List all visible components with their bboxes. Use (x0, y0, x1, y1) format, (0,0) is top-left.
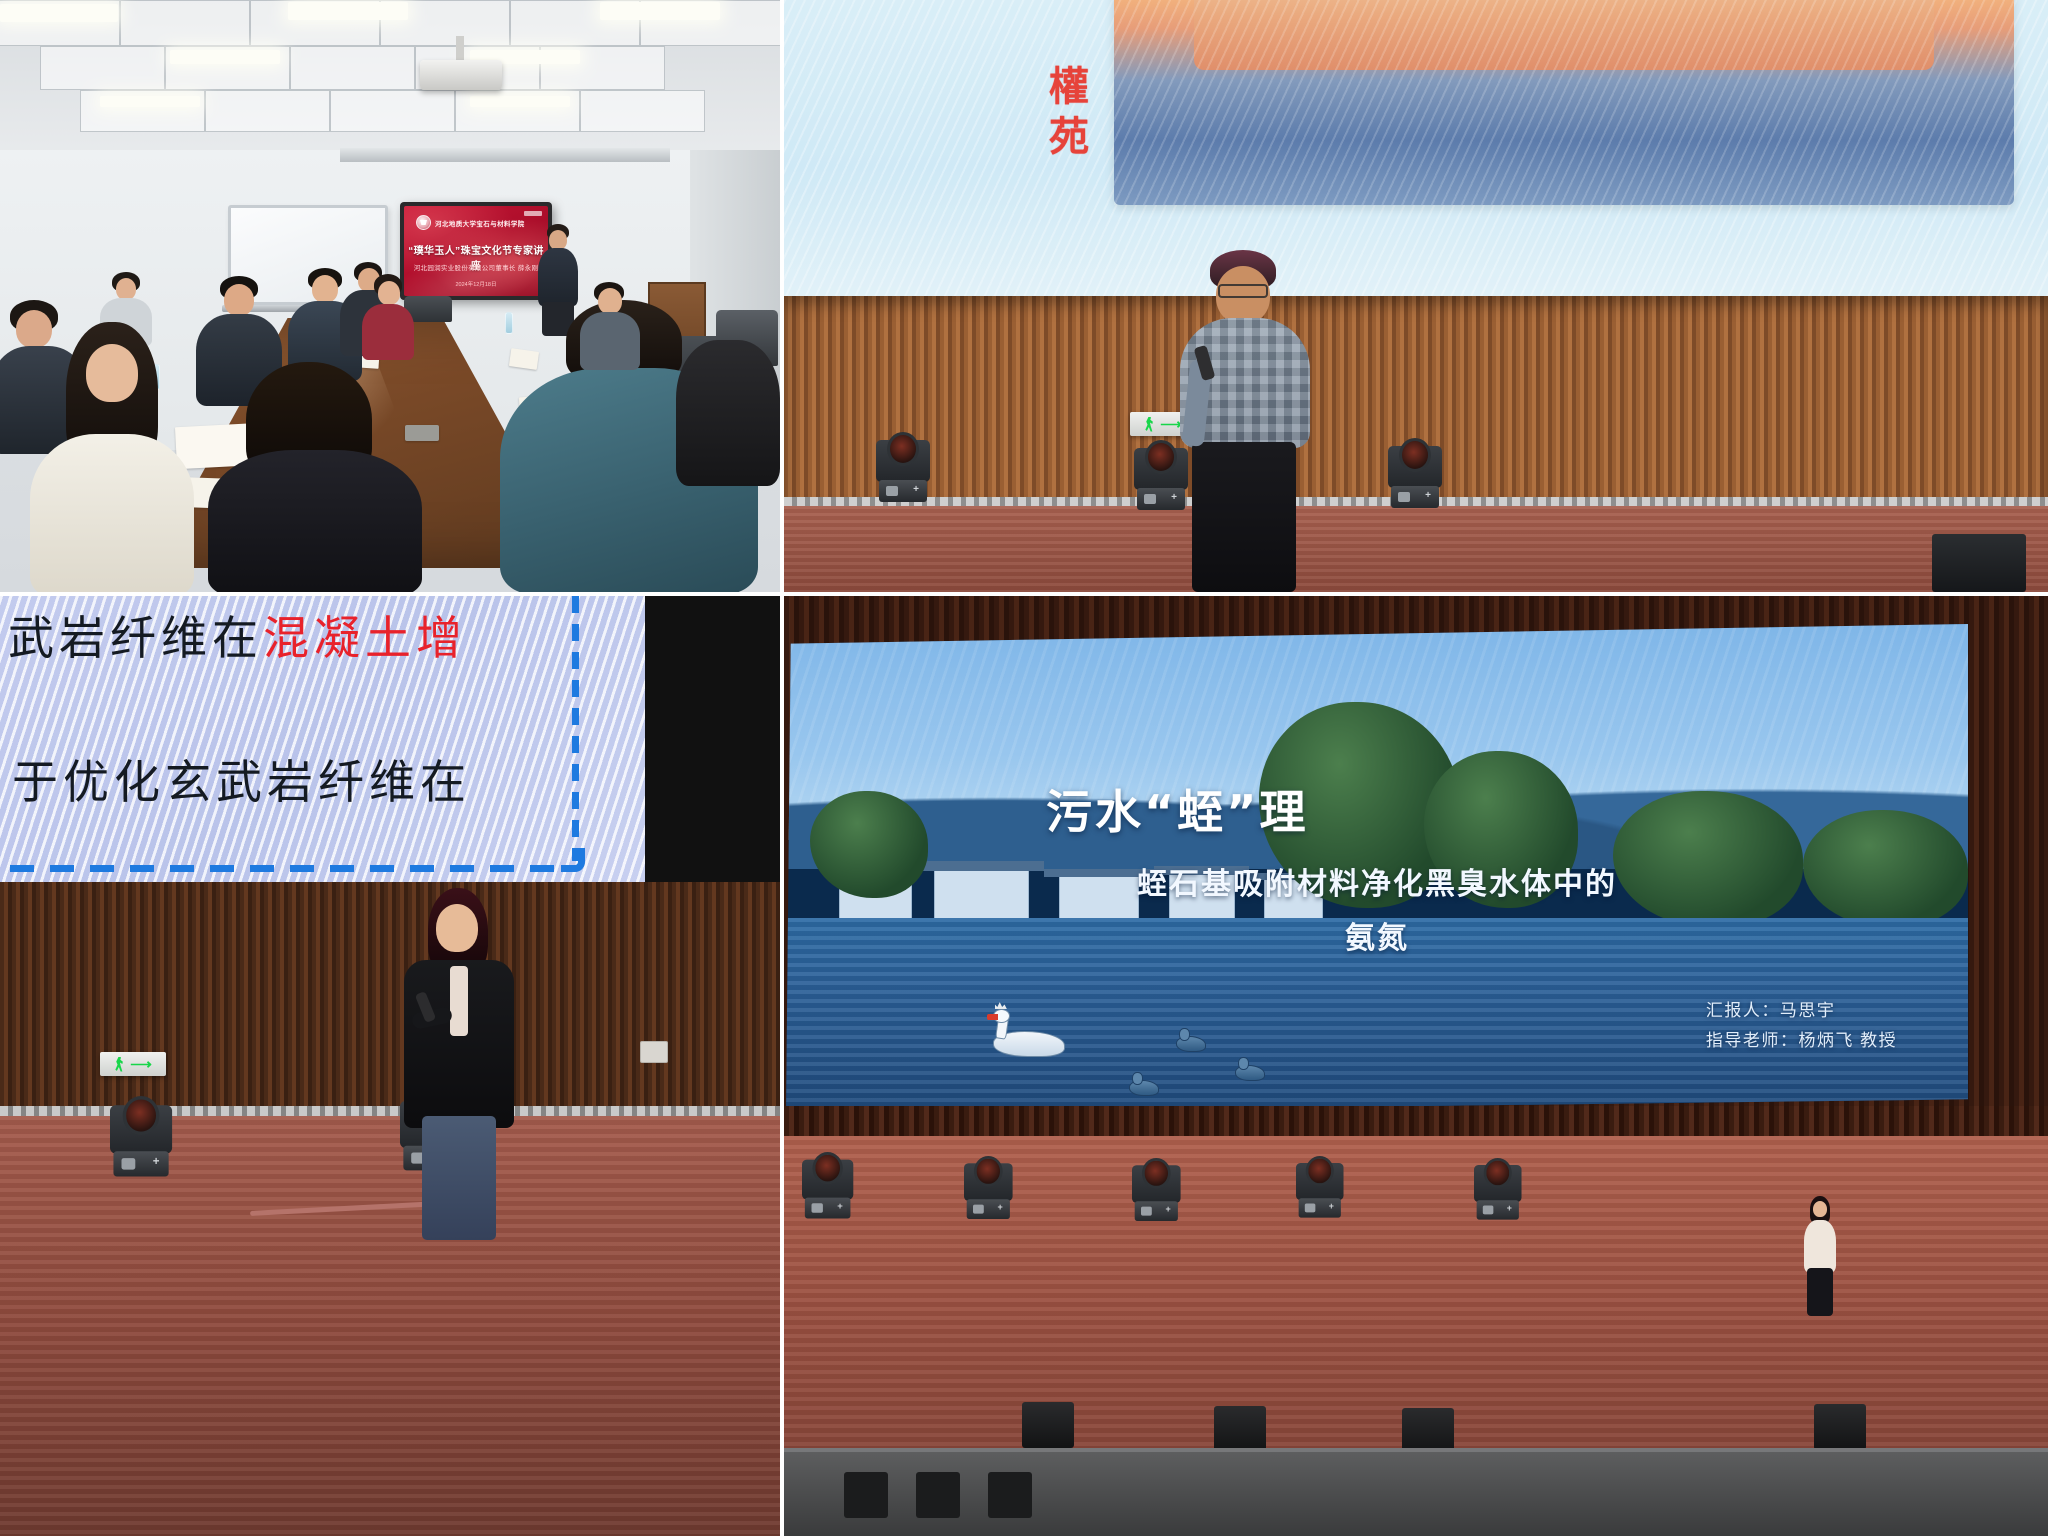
par-stage-light: + (876, 432, 930, 506)
collage-divider-horizontal-left (0, 592, 784, 596)
slide-line-1-red: 混凝土增 (263, 611, 467, 665)
attendee (580, 282, 640, 368)
slide-duck (1235, 1065, 1265, 1081)
projection-slide: 武岩纤维在混凝土增 于优化玄武岩纤维在 (0, 596, 645, 886)
exit-sign: ⟶ (100, 1052, 166, 1076)
projector-mount (456, 36, 464, 62)
screen-speaker-text: 河北园润实业股份有限公司董事长 薛永刚 (404, 262, 548, 272)
slide-line-1: 武岩纤维在混凝土增 (8, 602, 467, 668)
head (549, 230, 567, 250)
panel-bottom-left: 武岩纤维在混凝土增 于优化玄武岩纤维在 ⟶ + + (0, 596, 780, 1536)
torso (208, 450, 422, 592)
slide-photo-block (1114, 0, 2014, 205)
light-lens (974, 1156, 1003, 1187)
ceiling-tile (40, 46, 165, 90)
slide-subtitle-2: 氨氮 (786, 913, 1968, 957)
par-stage-light: + (1296, 1156, 1344, 1221)
ceiling-tile (580, 90, 705, 132)
eyeglasses (1218, 284, 1268, 298)
par-stage-light: + (110, 1096, 172, 1181)
female-presenter (404, 888, 512, 1238)
attendee (208, 362, 418, 592)
swan-beak (987, 1014, 998, 1020)
ceiling-tile (205, 90, 330, 132)
desk-slot (916, 1472, 960, 1518)
ceiling-light (100, 96, 200, 107)
par-stage-light: + (964, 1156, 1013, 1223)
light-lens (1306, 1156, 1334, 1186)
light-lens (1142, 1158, 1171, 1189)
top (1804, 1220, 1836, 1272)
screen-org-text: 河北地质大学宝石与材料学院 (435, 218, 525, 228)
torso (362, 304, 414, 360)
ceiling-tile (120, 0, 250, 46)
light-lens (1484, 1158, 1512, 1188)
light-lens (812, 1152, 842, 1184)
ceiling-tile (330, 90, 455, 132)
slide-swan-illustration (987, 1011, 1065, 1057)
screen-title-text: “璞华玉人”珠宝文化节专家讲座 (404, 242, 548, 272)
wall-rail (340, 148, 670, 162)
screen-date-text: 2024年12月18日 (404, 280, 548, 288)
head (312, 275, 338, 303)
attendee (30, 322, 190, 592)
slide-duck (1129, 1080, 1159, 1096)
collage-divider-horizontal-right (784, 592, 2048, 596)
ceiling-light (600, 2, 720, 20)
torso (538, 248, 578, 306)
light-lens (123, 1096, 160, 1135)
desk-slot (844, 1472, 888, 1518)
ceiling-tile (290, 46, 415, 90)
slide-duck (1176, 1036, 1206, 1052)
head (116, 278, 136, 300)
ceiling-light (288, 2, 408, 20)
screen-org-header: 河北地质大学宝石与材料学院 (416, 215, 525, 230)
slide-credits: 汇报人：马思宇 指导老师：杨炳飞 教授 (1706, 996, 1897, 1056)
par-stage-light: + (1132, 1158, 1181, 1225)
male-presenter (1180, 250, 1310, 592)
arrow-right-icon: ⟶ (1160, 417, 1182, 432)
slide-line-1-black: 武岩纤维在 (8, 611, 263, 665)
photo-collage: 河北地质大学宝石与材料学院 “璞华玉人”珠宝文化节专家讲座 河北园润实业股份有限… (0, 0, 2048, 1536)
chinese-seal-stamp: 權苑 (1032, 62, 1104, 170)
slide-title: 污水“蛭”理 (1046, 776, 1308, 842)
torso (580, 312, 640, 370)
led-screen-surface: 河北地质大学宝石与材料学院 “璞华玉人”珠宝文化节专家讲座 河北园润实业股份有限… (404, 206, 548, 296)
torso (30, 434, 194, 592)
skirt (1807, 1268, 1833, 1316)
stage-monitor-speaker (1814, 1404, 1866, 1450)
backpack (676, 340, 780, 486)
screen-brand-badge (524, 211, 542, 216)
trousers (1192, 442, 1296, 592)
head (86, 344, 138, 402)
ceiling-light (470, 96, 570, 107)
attendee (676, 330, 776, 480)
dashed-border-corner (561, 848, 585, 872)
led-presentation-screen: 河北地质大学宝石与材料学院 “璞华玉人”珠宝文化节专家讲座 河北园润实业股份有限… (400, 202, 552, 300)
slide-subtitle-1: 蛭石基吸附材料净化黑臭水体中的 (786, 859, 1968, 903)
head (1813, 1201, 1827, 1217)
panel-top-right: 權苑 ⟶ + + + (784, 0, 2048, 592)
slide-line-2: 于优化玄武岩纤维在 (12, 746, 471, 812)
panel-bottom-right: 污水“蛭”理 蛭石基吸附材料净化黑臭水体中的 氨氮 汇报人：马思宇 指导老师：杨… (784, 596, 2048, 1536)
stage-monitor-speaker (1214, 1406, 1266, 1452)
panel-top-left: 河北地质大学宝石与材料学院 “璞华玉人”珠宝文化节专家讲座 河北园润实业股份有限… (0, 0, 780, 592)
head (598, 288, 622, 314)
light-lens (887, 432, 919, 466)
par-stage-light: + (1388, 438, 1442, 512)
ceiling-light (0, 4, 118, 22)
gem-diamond-logo (416, 215, 431, 230)
arrow-right-icon: ⟶ (130, 1057, 152, 1072)
blue-jeans (422, 1116, 496, 1240)
head (378, 281, 400, 305)
head (224, 284, 254, 316)
dashed-border-vertical (572, 596, 579, 861)
front-control-desk (784, 1448, 2048, 1536)
running-person-icon (114, 1057, 125, 1072)
stage-back-wall (0, 882, 780, 1112)
wall-power-socket (640, 1041, 668, 1063)
dashed-border-horizontal (10, 865, 565, 872)
ceiling-light (170, 50, 280, 64)
par-stage-light: + (1474, 1158, 1522, 1223)
light-lens (1145, 440, 1177, 474)
ceiling-projector (420, 60, 502, 90)
desk-slot (988, 1472, 1032, 1518)
projection-slide: 權苑 (784, 0, 2048, 308)
stage-monitor-speaker (1022, 1402, 1074, 1448)
running-person-icon (1144, 417, 1155, 432)
credit-presenter: 汇报人：马思宇 (1706, 996, 1897, 1026)
slide-photo-inner (1194, 0, 1934, 70)
credit-advisor: 指导老师：杨炳飞 教授 (1706, 1026, 1897, 1056)
inner-top (450, 966, 468, 1036)
stage-monitor-speaker (1932, 534, 2026, 592)
head (436, 904, 478, 952)
par-stage-light: + (802, 1152, 853, 1222)
collage-divider-vertical (780, 0, 784, 1536)
light-lens (1399, 438, 1431, 472)
stage-floor (784, 506, 2048, 592)
large-led-screen: 污水“蛭”理 蛭石基吸附材料净化黑臭水体中的 氨氮 汇报人：马思宇 指导老师：杨… (786, 624, 1968, 1114)
female-presenter (1802, 1196, 1838, 1314)
attendee (362, 274, 414, 358)
